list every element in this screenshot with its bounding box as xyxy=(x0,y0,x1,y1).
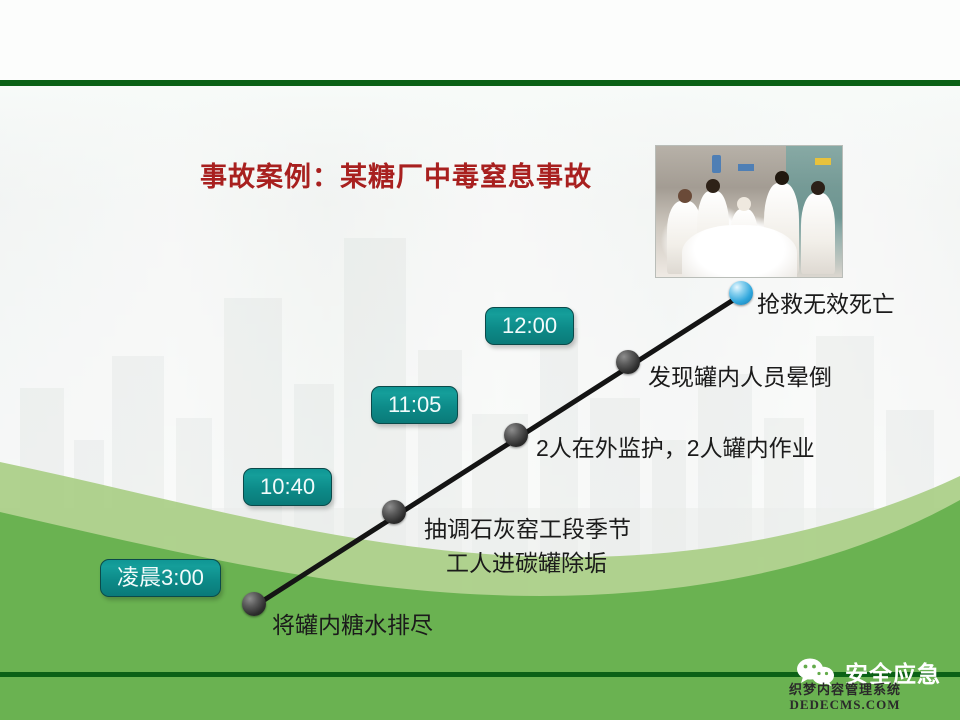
timeline-node-4[interactable] xyxy=(616,350,640,374)
watermark: 织梦内容管理系统 DEDECMS.COM xyxy=(789,682,901,712)
slide-canvas: 事故案例：某糖厂中毒窒息事故 凌晨3:00 10:40 11:05 12:00 xyxy=(0,0,960,720)
time-pill-4[interactable]: 12:00 xyxy=(485,307,574,345)
timeline-node-3[interactable] xyxy=(504,423,528,447)
event-caption-3: 2人在外监护，2人罐内作业 xyxy=(536,431,815,465)
time-pill-2[interactable]: 10:40 xyxy=(243,468,332,506)
timeline-node-1[interactable] xyxy=(242,592,266,616)
event-caption-1: 将罐内糖水排尽 xyxy=(272,608,433,642)
event-caption-2: 抽调石灰窑工段季节 工人进碳罐除垢 xyxy=(424,512,631,580)
event-caption-5: 抢救无效死亡 xyxy=(757,287,895,321)
event-caption-4: 发现罐内人员晕倒 xyxy=(648,360,832,394)
page-title: 事故案例：某糖厂中毒窒息事故 xyxy=(200,155,592,194)
time-pill-3[interactable]: 11:05 xyxy=(371,386,458,424)
hospital-emergency-photo xyxy=(655,145,843,278)
top-green-rule xyxy=(0,80,960,86)
watermark-line-1: 织梦内容管理系统 xyxy=(789,682,901,697)
time-pill-1[interactable]: 凌晨3:00 xyxy=(100,559,221,597)
watermark-line-2: DEDECMS.COM xyxy=(789,697,901,712)
timeline-node-2[interactable] xyxy=(382,500,406,524)
event-caption-2-line-2: 工人进碳罐除垢 xyxy=(446,546,631,580)
event-caption-2-line-1: 抽调石灰窑工段季节 xyxy=(424,512,631,546)
timeline-node-5[interactable] xyxy=(729,281,753,305)
top-white-band xyxy=(0,0,960,80)
